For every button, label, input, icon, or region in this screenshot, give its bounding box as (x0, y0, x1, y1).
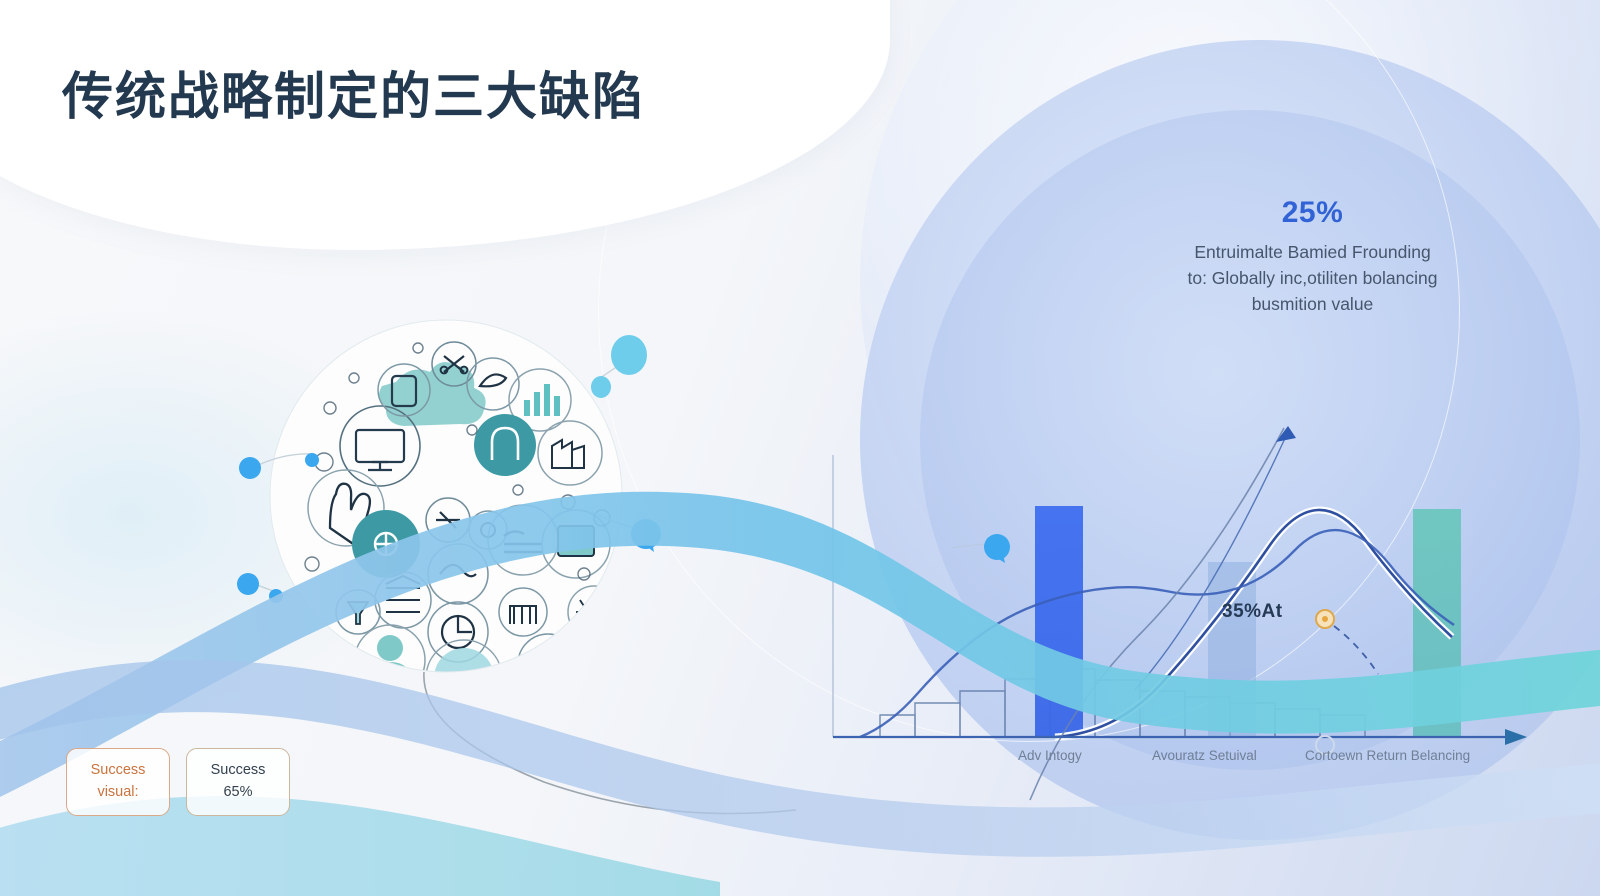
x-axis-label-0: Adv Intogy (1018, 748, 1082, 763)
chip-success-visual[interactable]: Success visual: (66, 748, 170, 816)
slide-canvas: 传统战略制定的三大缺陷 (0, 0, 1600, 896)
stat-value: 25% (1145, 196, 1480, 230)
chip-success-65[interactable]: Success 65% (186, 748, 290, 816)
stat-block: 25% Entruimalte Bamied Frounding to: Glo… (1145, 196, 1480, 318)
dashed-connector (1334, 626, 1378, 674)
chip-group: Success visual: Success 65% (66, 748, 290, 816)
chip-line-2: visual: (97, 782, 138, 804)
chip-line-1: Success (211, 760, 266, 782)
x-axis-label-1: Avouratz Setuival (1152, 748, 1257, 763)
arrow-head (1276, 426, 1296, 442)
x-axis-arrowhead (1505, 729, 1527, 745)
annotation-point-label: 35%At (1222, 601, 1283, 623)
chip-line-2: 65% (223, 782, 252, 804)
chip-line-1: Success (91, 760, 146, 782)
x-axis-label-2: Cortoewn Return Belancing (1305, 748, 1470, 763)
stat-description: Entruimalte Bamied Frounding to: Globall… (1145, 240, 1480, 318)
